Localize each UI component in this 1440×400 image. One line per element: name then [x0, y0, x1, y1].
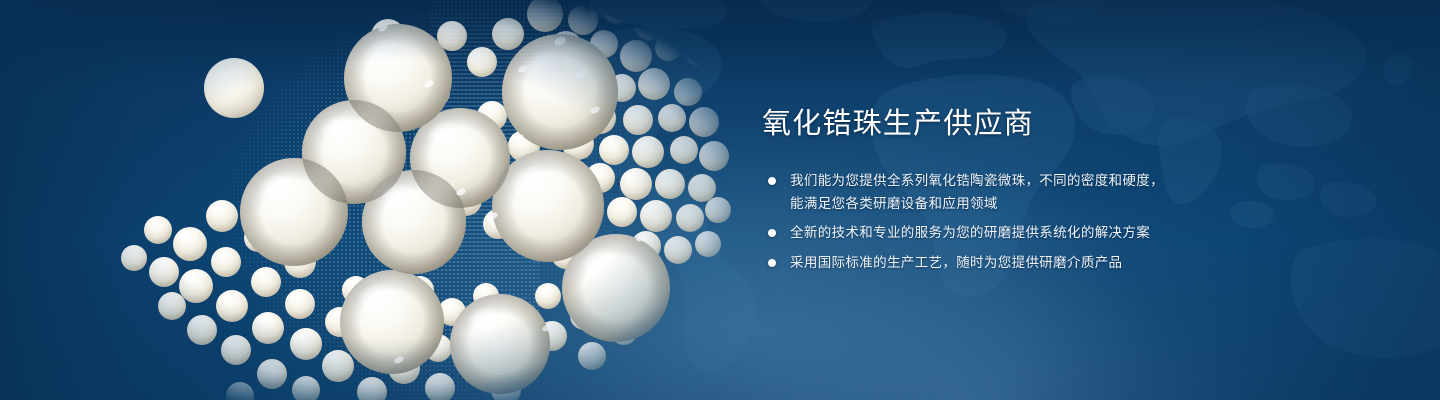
- list-item: 我们能为您提供全系列氧化锆陶瓷微珠，不同的密度和硬度， 能满足您各类研磨设备和应…: [762, 170, 1282, 215]
- list-item-line: 采用国际标准的生产工艺，随时为您提供研磨介质产品: [790, 252, 1282, 275]
- page-title: 氧化锆珠生产供应商: [762, 104, 1282, 144]
- bullet-dot-icon: [768, 177, 776, 185]
- list-item-line: 能满足您各类研磨设备和应用领域: [790, 193, 1282, 216]
- list-item-line: 全新的技术和专业的服务为您的研磨提供系统化的解决方案: [790, 222, 1282, 245]
- list-item-line: 我们能为您提供全系列氧化锆陶瓷微珠，不同的密度和硬度，: [790, 170, 1282, 193]
- feature-list: 我们能为您提供全系列氧化锆陶瓷微珠，不同的密度和硬度， 能满足您各类研磨设备和应…: [762, 170, 1282, 274]
- hero-banner: 氧化锆珠生产供应商 我们能为您提供全系列氧化锆陶瓷微珠，不同的密度和硬度， 能满…: [0, 0, 1440, 400]
- bullet-dot-icon: [768, 259, 776, 267]
- bullet-dot-icon: [768, 229, 776, 237]
- banner-copy: 氧化锆珠生产供应商 我们能为您提供全系列氧化锆陶瓷微珠，不同的密度和硬度， 能满…: [762, 104, 1282, 274]
- list-item: 全新的技术和专业的服务为您的研磨提供系统化的解决方案: [762, 222, 1282, 245]
- list-item: 采用国际标准的生产工艺，随时为您提供研磨介质产品: [762, 252, 1282, 275]
